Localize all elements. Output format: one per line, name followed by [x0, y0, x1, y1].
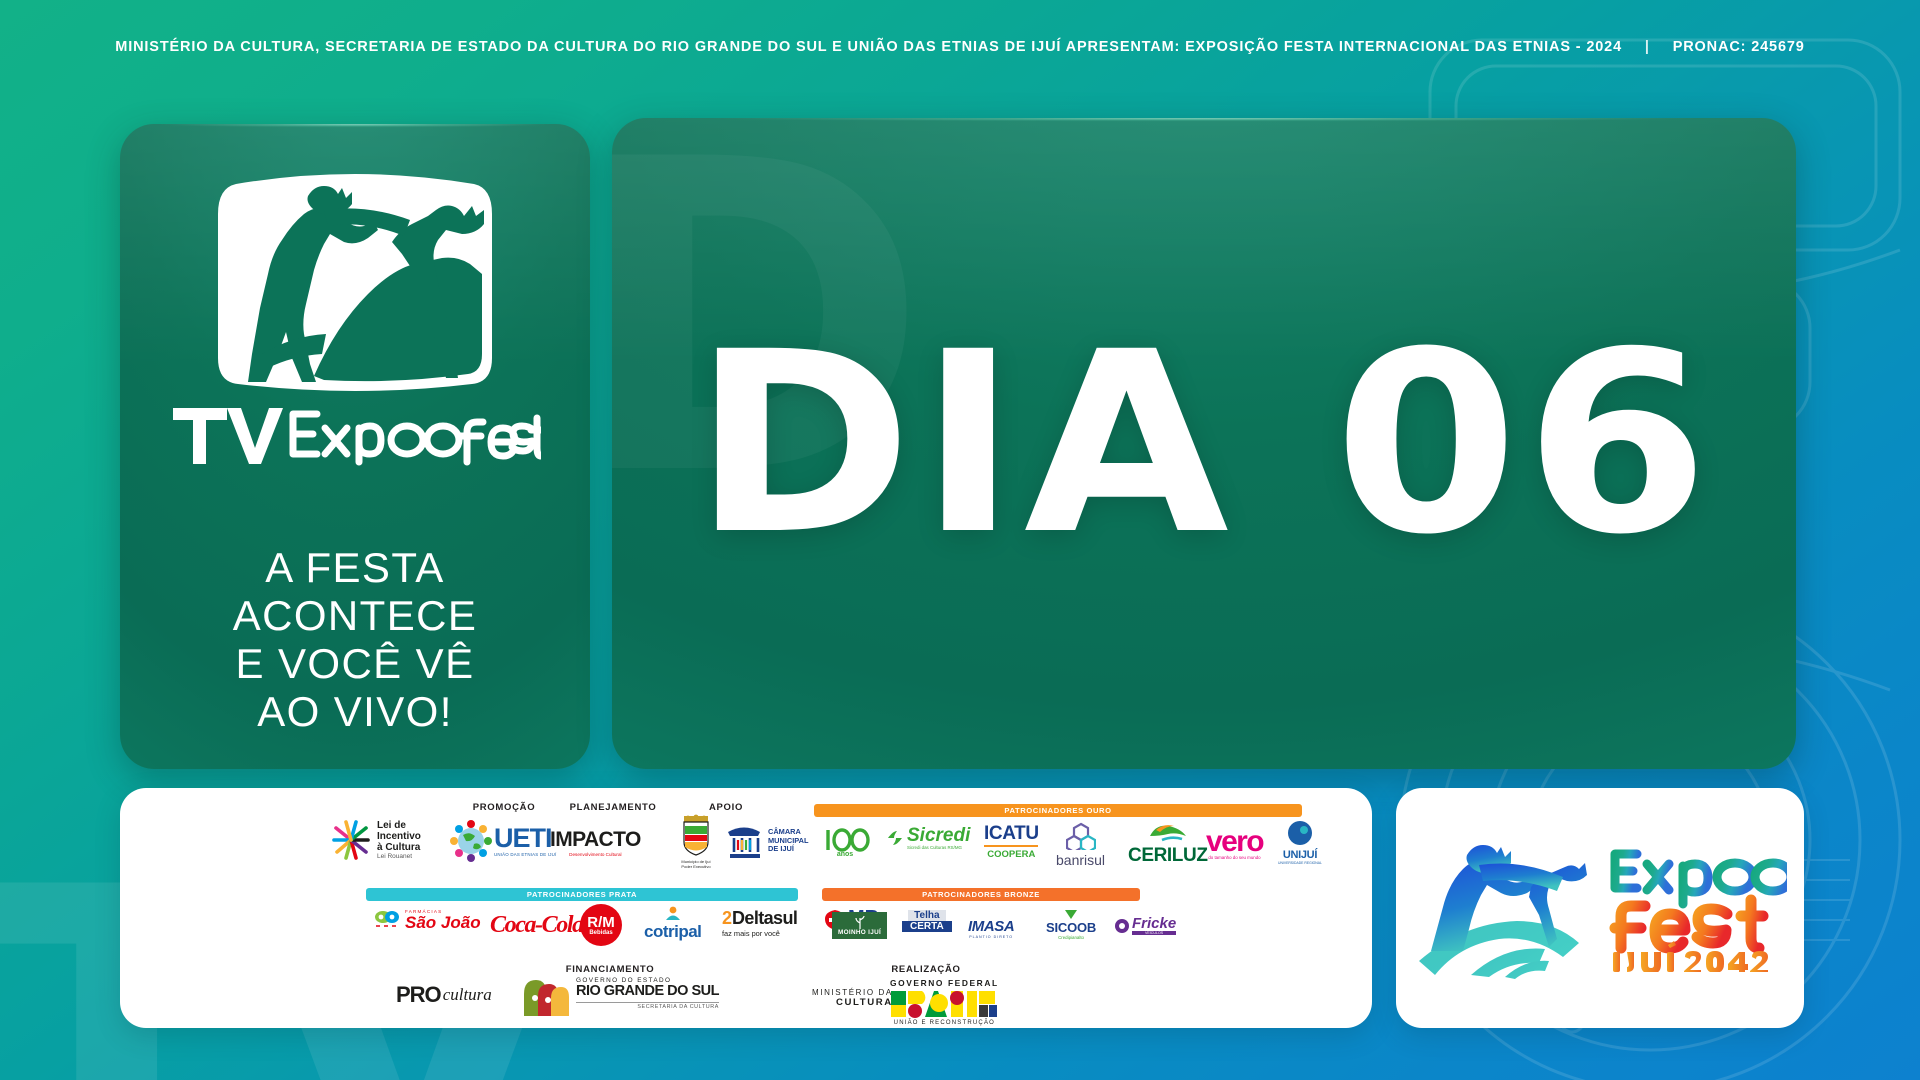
sponsor-logo-brasao-ijui: Município de Ijuí Poder Executivo [680, 814, 712, 869]
icatu-sub: COOPERA [987, 849, 1035, 860]
banrisul-name: banrisul [1056, 852, 1105, 868]
camara-line-3: DE IJUÍ [768, 845, 809, 854]
governo-rs-faces-icon [518, 972, 570, 1016]
category-label-planejamento: PLANEJAMENTO [558, 802, 668, 813]
tv-expofest-wordmark [169, 402, 541, 468]
sponsor-logo-telha-certa: Telha CERTA [902, 910, 952, 932]
lei-line-2: Incentivo [377, 831, 421, 842]
tagline-line-2: ACONTECE [120, 592, 590, 640]
unijui-icon [1285, 820, 1315, 848]
sponsor-logo-icatu: ICATU COOPERA [984, 824, 1039, 860]
sponsor-logo-lei-incentivo-cultura: Lei de Incentivo à Cultura Lei Rouanet [330, 818, 421, 862]
sicredi-icon [886, 829, 904, 847]
sicredi-sub: Sicredi das Culturas RS/MG [907, 845, 970, 850]
governo-rs-line-2: RIO GRANDE DO SUL [576, 984, 719, 1000]
sponsor-logo-governo-federal: GOVERNO FEDERAL UNIÃO E RECONSTRUÇÃO [890, 978, 999, 1026]
sponsor-logo-ueti: UETI UNIÃO DAS ETNIAS DE IJUÍ [450, 820, 556, 862]
100-anos-icon [820, 824, 870, 854]
left-panel-tagline: A FESTA ACONTECE E VOCÊ VÊ AO VIVO! [120, 544, 590, 736]
sponsor-logo-impacto: IMPACTO Desenvolvimento Cultural [550, 828, 641, 857]
moinho-wheat-icon [854, 915, 866, 929]
category-ribbon-bronze: PATROCINADORES BRONZE [822, 888, 1140, 901]
governo-rs-line-3: SECRETARIA DA CULTURA [576, 1005, 719, 1011]
sponsor-logo-sicoob: SICOOB Credipianalto [1046, 908, 1096, 940]
expofest-ijui-logo-card [1396, 788, 1804, 1028]
brasil-wordmark-icon [891, 989, 997, 1019]
poster-canvas: TV MINISTÉRIO DA CULTURA, SECRETARIA DE … [0, 0, 1920, 1080]
category-label-realizacao: REALIZAÇÃO [836, 964, 1016, 975]
ceriluz-name: CERILUZ [1128, 845, 1208, 867]
fricke-name: Fricke [1132, 916, 1176, 931]
sponsor-logo-vero: vero do tamanho do seu mundo [1206, 828, 1263, 860]
sicredi-name: Sicredi [907, 826, 970, 845]
category-ribbon-prata: PATROCINADORES PRATA [366, 888, 798, 901]
sicoob-sub: Credipianalto [1058, 935, 1084, 940]
sponsor-logo-camara-municipal: CÂMARA MUNICIPAL DE IJUÍ [724, 820, 809, 862]
impacto-name: IMPACTO [550, 828, 641, 852]
lei-line-3: à Cultura [377, 842, 421, 853]
sponsor-logo-governo-rs: GOVERNO DO ESTADO RIO GRANDE DO SUL SECR… [518, 972, 719, 1016]
sponsor-logo-moinho-ijui-2: MOINHO IJUÍ [832, 912, 887, 939]
sponsor-logo-banrisul: banrisul [1056, 822, 1105, 868]
lei-line-1: Lei de [377, 820, 421, 831]
unijui-sub: UNIVERSIDADE REGIONAL [1278, 861, 1322, 865]
ministerio-line-2: CULTURA [836, 997, 893, 1008]
imasa-name: IMASA [968, 918, 1014, 935]
bronze-logo-row: MOINHO IJUÍ Telha CERTA IMASA PLANTIO DI… [120, 908, 1372, 954]
header-credit-bar: MINISTÉRIO DA CULTURA, SECRETARIA DE EST… [0, 38, 1920, 56]
brasao-ijui-sub: Poder Executivo [681, 864, 710, 869]
header-credit-text: MINISTÉRIO DA CULTURA, SECRETARIA DE EST… [115, 39, 1622, 55]
camara-municipal-icon [724, 820, 764, 862]
expofest-wordmark [1605, 844, 1787, 972]
day-panel: D DIA 06 [612, 118, 1796, 769]
fricke-icon [1114, 918, 1130, 934]
header-pronac: PRONAC: 245679 [1673, 39, 1805, 55]
header-separator: | [1645, 39, 1650, 55]
icatu-name: ICATU [984, 824, 1039, 843]
brasao-ijui-crest-icon [680, 814, 712, 858]
imasa-sub: PLANTIO DIRETO [969, 935, 1013, 939]
tagline-line-3: E VOCÊ VÊ [120, 640, 590, 688]
tagline-line-1: A FESTA [120, 544, 590, 592]
unijui-name: UNIJUÍ [1283, 849, 1317, 861]
pro-cultura-name: PRO [396, 982, 441, 1008]
expofest-dancers-icon [1413, 835, 1589, 981]
lei-line-4: Lei Rouanet [377, 853, 421, 860]
pro-cultura-sub: cultura [443, 985, 492, 1005]
vero-name: vero [1206, 828, 1263, 855]
category-label-promocao: PROMOÇÃO [456, 802, 552, 813]
day-label: DIA 06 [612, 118, 1796, 769]
expofest-ijui-2024-wordmark [1605, 844, 1787, 972]
sponsor-logo-ministerio-cultura: MINISTÉRIO DA CULTURA [812, 988, 893, 1008]
ceriluz-icon [1146, 822, 1190, 844]
moinho-name: MOINHO IJUÍ [838, 929, 881, 936]
impacto-sub: Desenvolvimento Cultural [569, 852, 621, 857]
sicoob-name: SICOOB [1046, 920, 1096, 935]
category-label-apoio: APOIO [686, 802, 766, 813]
tv-expofest-panel: A FESTA ACONTECE E VOCÊ VÊ AO VIVO! [120, 124, 590, 769]
category-ribbon-ouro: PATROCINADORES OURO [814, 804, 1302, 817]
100-anos-sub: anos [837, 851, 853, 858]
telha-bottom: CERTA [902, 921, 952, 932]
sponsor-logo-ceriluz: CERILUZ [1128, 822, 1208, 867]
sponsor-logo-fricke: Fricke VEÍCULOS [1114, 916, 1176, 935]
tagline-line-4: AO VIVO! [120, 688, 590, 736]
tv-expofest-logo [120, 158, 590, 468]
tv-dancers-icon [196, 158, 514, 408]
ueti-name: UETI [494, 825, 556, 852]
sponsor-logo-unijui: UNIJUÍ UNIVERSIDADE REGIONAL [1278, 820, 1322, 865]
sponsor-logo-pro-cultura: PRO cultura [396, 982, 492, 1008]
sponsor-logo-100-anos: anos [820, 824, 870, 858]
sicoob-icon [1063, 908, 1079, 920]
banrisul-icon [1066, 822, 1096, 850]
ueti-globe-icon [450, 820, 492, 862]
lei-incentivo-starburst-icon [330, 818, 372, 862]
sponsor-bar: PROMOÇÃO PLANEJAMENTO APOIO PATROCINADOR… [120, 788, 1372, 1028]
vero-sub: do tamanho do seu mundo [1208, 855, 1260, 860]
governo-federal-line-1: GOVERNO FEDERAL [890, 978, 999, 988]
sponsor-logo-imasa: IMASA PLANTIO DIRETO [968, 918, 1014, 939]
sponsor-logo-sicredi: Sicredi Sicredi das Culturas RS/MG [886, 826, 970, 850]
governo-federal-line-3: UNIÃO E RECONSTRUÇÃO [894, 1020, 995, 1026]
ministerio-line-1: MINISTÉRIO DA [812, 988, 893, 997]
header-credit-line: MINISTÉRIO DA CULTURA, SECRETARIA DE EST… [115, 39, 1804, 55]
telha-top: Telha [908, 910, 945, 921]
ueti-sub: UNIÃO DAS ETNIAS DE IJUÍ [494, 852, 556, 857]
